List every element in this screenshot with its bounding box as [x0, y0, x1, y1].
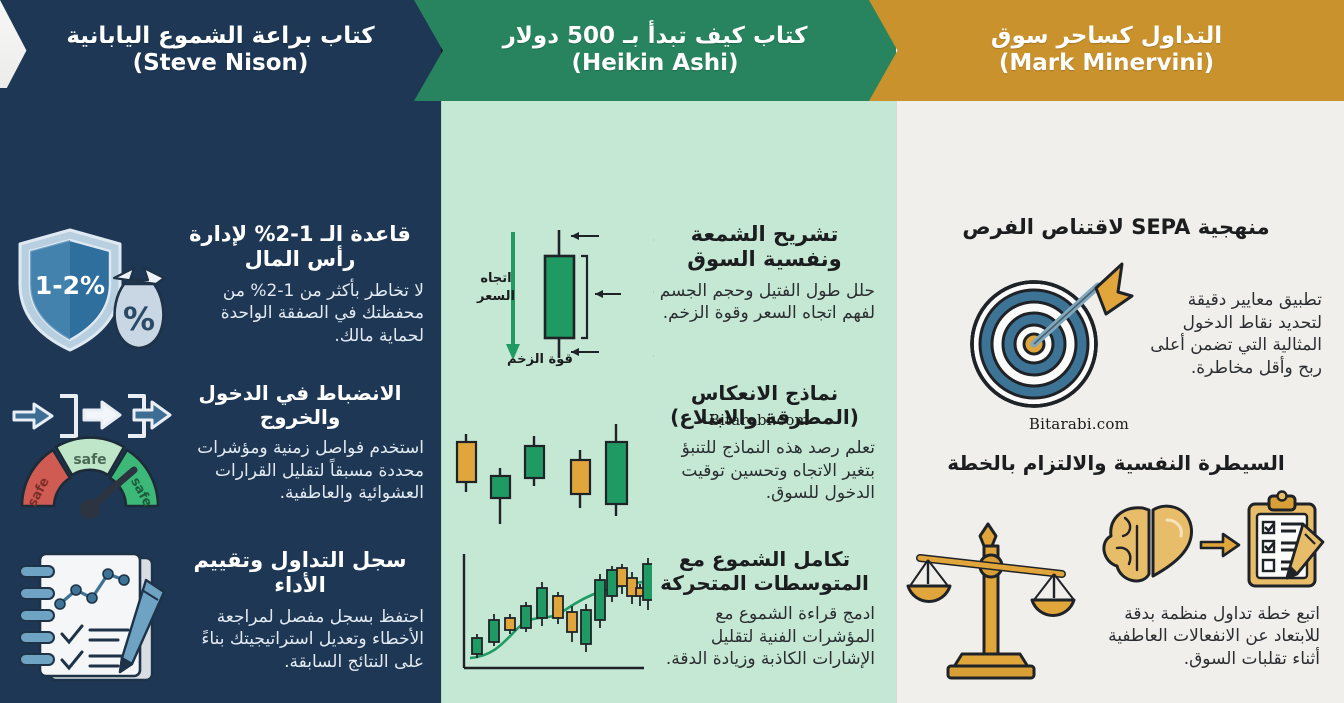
header-title-minervini-en: (Mark Minervini) [999, 50, 1214, 78]
section-risk-rule: قاعدة الـ 1-2% لإدارة رأس المال لا تخاطر… [4, 222, 434, 362]
section-discipline: الانضباط في الدخول والخروج استخدم فواصل … [4, 382, 434, 532]
header-title-nison-ar: كتاب براعة الشموع اليابانية [66, 23, 374, 49]
candles-moving-average-chart-icon [449, 548, 654, 680]
watermark-middle: Bitarabi.com [709, 411, 809, 429]
section-psychology: السيطرة النفسية والالتزام بالخطة [896, 452, 1336, 684]
label-candle-body: جسم [653, 279, 654, 294]
header-band-heikin-wrap: كتاب كيف تبدأ بـ 500 دولار (Heikin Ashi) [414, 0, 896, 101]
header-title-nison-en: (Steve Nison) [133, 50, 309, 78]
infographic-page: دليل احتراف التداول: خلاصة 3 كتب أساسية … [0, 0, 1344, 703]
label-upper-wick: فتيل علوي [653, 230, 654, 245]
header-title-minervini-ar: التداول كساحر سوق [991, 23, 1222, 49]
candle-anatomy-icon: اتجاه السعر قوة الزخم فتيل علوي [449, 222, 654, 374]
reversal-patterns-icon [449, 382, 654, 532]
label-lower-wick: فتيل سفلي [653, 346, 654, 361]
section-sepa-heading: منهجية SEPA لاقتناص الفرص [896, 215, 1336, 240]
brain-heart-checklist-icon [1086, 490, 1336, 595]
section-sepa-body: تطبيق معايير دقيقة لتحديد نقاط الدخول ال… [1146, 289, 1336, 379]
section-risk-heading: قاعدة الـ 1-2% لإدارة رأس المال [176, 222, 424, 272]
section-psychology-body: اتبع خطة تداول منظمة بدقة للابتعاد عن ال… [1086, 595, 1336, 671]
section-reversal-body: تعلم رصد هذه النماذج للتنبؤ بتغير الاتجا… [654, 437, 875, 505]
gauge-label-center: safe [73, 452, 106, 468]
header-band-nison-wrap: كتاب براعة الشموع اليابانية (Steve Nison… [0, 0, 441, 101]
watermark-left: Bitarabi.com [1029, 415, 1129, 433]
section-journal-body: احتفظ بسجل مفصل لمراجعة الأخطاء وتعديل ا… [176, 606, 424, 674]
header-title-heikin-ar: كتاب كيف تبدأ بـ 500 دولار [503, 23, 808, 49]
section-risk-body: لا تخاطر بأكثر من 1-2% من محفظتك في الصف… [176, 280, 424, 348]
section-moving-averages: تكامل الشموع مع المتوسطات المتحركة ادمج … [444, 548, 889, 680]
section-sepa: منهجية SEPA لاقتناص الفرص تطبيق معايير د… [896, 215, 1336, 417]
section-ma-heading: تكامل الشموع مع المتوسطات المتحركة [654, 548, 875, 595]
header-band-heikin: كتاب كيف تبدأ بـ 500 دولار (Heikin Ashi) [414, 0, 896, 101]
shield-badge-text: 1-2% [34, 271, 104, 300]
section-journal-heading: سجل التداول وتقييم الأداء [176, 548, 424, 598]
section-ma-body: ادمج قراءة الشموع مع المؤشرات الفنية لتق… [654, 603, 875, 671]
section-reversal-patterns: نماذج الانعكاس (المطرقة والابتلاع) تعلم … [444, 382, 889, 532]
trading-journal-notebook-icon [4, 548, 176, 688]
svg-text:الشمعة: الشمعة [653, 295, 654, 310]
target-arrow-icon [936, 252, 1146, 417]
header-title-heikin-en: (Heikin Ashi) [571, 50, 738, 78]
shield-money-bag-icon: 1-2% % [4, 222, 176, 362]
section-psychology-heading: السيطرة النفسية والالتزام بالخطة [896, 452, 1336, 476]
label-momentum: قوة الزخم [507, 352, 573, 367]
balance-scale-icon [896, 490, 1086, 684]
header-band-nison: كتاب براعة الشموع اليابانية (Steve Nison… [0, 0, 441, 101]
money-bag-percent: % [122, 300, 154, 338]
svg-text:السعر: السعر [476, 289, 515, 304]
section-discipline-heading: الانضباط في الدخول والخروج [176, 382, 424, 429]
section-candle-anatomy: تشريح الشمعة ونفسية السوق حلل طول الفتيل… [444, 222, 889, 374]
header-band-minervini: التداول كساحر سوق (Mark Minervini) [869, 0, 1344, 101]
section-discipline-body: استخدم فواصل زمنية ومؤشرات محددة مسبقاً … [176, 437, 424, 505]
section-candle-anatomy-body: حلل طول الفتيل وحجم الجسم لفهم اتجاه الس… [654, 280, 875, 325]
section-candle-anatomy-heading: تشريح الشمعة ونفسية السوق [654, 222, 875, 272]
label-price-direction: اتجاه [480, 271, 511, 286]
header-band-minervini-wrap: التداول كساحر سوق (Mark Minervini) [869, 0, 1344, 101]
entry-exit-gauge-icon: safe safe safe [4, 382, 176, 532]
section-journal: سجل التداول وتقييم الأداء احتفظ بسجل مفص… [4, 548, 434, 688]
